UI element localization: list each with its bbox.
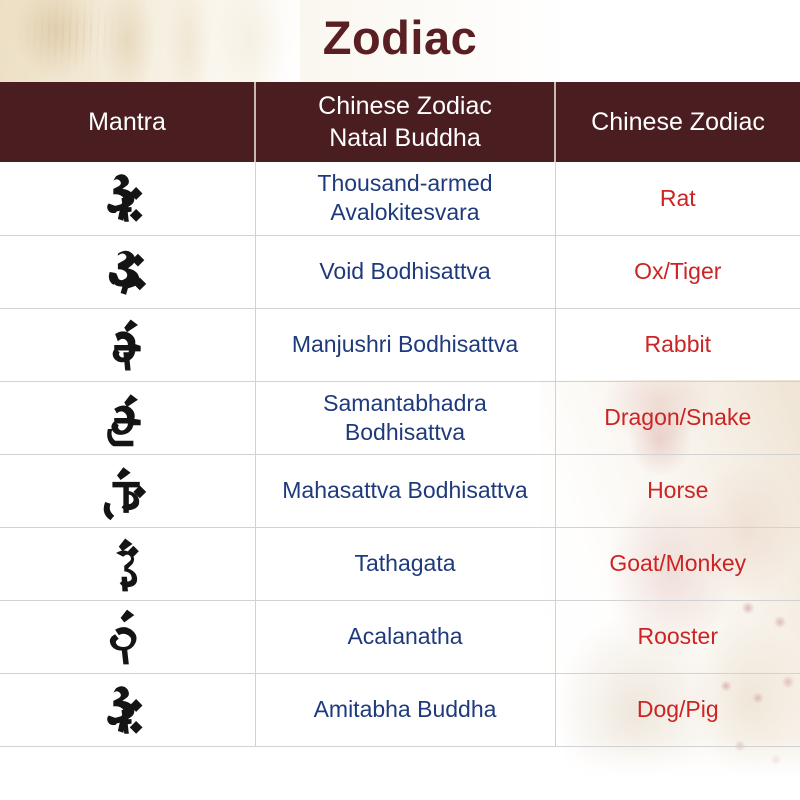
siddham-bija-bai-icon bbox=[96, 533, 158, 595]
chinese-zodiac-cell: Rabbit bbox=[555, 308, 800, 381]
natal-buddha-line1: Samantabhadra bbox=[323, 390, 487, 416]
natal-buddha-line1: Mahasattva Bodhisattva bbox=[282, 477, 527, 503]
siddham-bija-am-icon bbox=[96, 387, 158, 449]
siddham-bija-hrih2-icon bbox=[96, 679, 158, 741]
siddham-bija-man-icon bbox=[96, 314, 158, 376]
natal-buddha-cell: Manjushri Bodhisattva bbox=[255, 308, 555, 381]
mantra-cell bbox=[0, 162, 255, 235]
table-row: TathagataGoat/Monkey bbox=[0, 527, 800, 600]
chinese-zodiac-cell: Horse bbox=[555, 454, 800, 527]
chinese-zodiac-cell: Rat bbox=[555, 162, 800, 235]
natal-buddha-cell: SamantabhadraBodhisattva bbox=[255, 381, 555, 454]
mantra-cell bbox=[0, 308, 255, 381]
column-header-natal-buddha-line2: Natal Buddha bbox=[329, 124, 481, 152]
mantra-cell bbox=[0, 454, 255, 527]
natal-buddha-cell: Acalanatha bbox=[255, 600, 555, 673]
siddham-bija-ham-icon bbox=[96, 606, 158, 668]
natal-buddha-line1: Tathagata bbox=[354, 550, 455, 576]
chinese-zodiac-cell: Rooster bbox=[555, 600, 800, 673]
chinese-zodiac-cell: Dragon/Snake bbox=[555, 381, 800, 454]
natal-buddha-cell: Void Bodhisattva bbox=[255, 235, 555, 308]
mantra-cell bbox=[0, 600, 255, 673]
natal-buddha-line1: Void Bodhisattva bbox=[319, 258, 490, 284]
natal-buddha-cell: Thousand-armedAvalokitesvara bbox=[255, 162, 555, 235]
bottom-fade bbox=[0, 740, 800, 800]
table-row: Mahasattva BodhisattvaHorse bbox=[0, 454, 800, 527]
table-row: Thousand-armedAvalokitesvaraRat bbox=[0, 162, 800, 235]
column-header-natal-buddha: Chinese Zodiac Natal Buddha bbox=[255, 82, 555, 162]
zodiac-infographic: Zodiac Mantra Chinese Zodiac Natal Buddh… bbox=[0, 0, 800, 800]
chinese-zodiac-cell: Goat/Monkey bbox=[555, 527, 800, 600]
table-row: Manjushri BodhisattvaRabbit bbox=[0, 308, 800, 381]
mantra-cell bbox=[0, 527, 255, 600]
column-header-chinese-zodiac: Chinese Zodiac bbox=[555, 82, 800, 162]
siddham-bija-sa-icon bbox=[96, 460, 158, 522]
column-header-mantra: Mantra bbox=[0, 82, 255, 162]
chinese-zodiac-cell: Ox/Tiger bbox=[555, 235, 800, 308]
chinese-zodiac-cell: Dog/Pig bbox=[555, 673, 800, 746]
natal-buddha-line1: Thousand-armed bbox=[317, 170, 492, 196]
natal-buddha-cell: Tathagata bbox=[255, 527, 555, 600]
table-row: Amitabha BuddhaDog/Pig bbox=[0, 673, 800, 746]
mantra-cell bbox=[0, 235, 255, 308]
natal-buddha-cell: Mahasattva Bodhisattva bbox=[255, 454, 555, 527]
natal-buddha-line1: Amitabha Buddha bbox=[314, 696, 497, 722]
zodiac-table: Mantra Chinese Zodiac Natal Buddha Chine… bbox=[0, 82, 800, 747]
natal-buddha-line2: Bodhisattva bbox=[345, 419, 465, 445]
table-row: SamantabhadraBodhisattvaDragon/Snake bbox=[0, 381, 800, 454]
natal-buddha-line1: Acalanatha bbox=[347, 623, 462, 649]
natal-buddha-cell: Amitabha Buddha bbox=[255, 673, 555, 746]
mantra-cell bbox=[0, 381, 255, 454]
header-row: Mantra Chinese Zodiac Natal Buddha Chine… bbox=[0, 82, 800, 162]
table-body: Thousand-armedAvalokitesvaraRat Void Bod… bbox=[0, 162, 800, 746]
page-title: Zodiac bbox=[0, 6, 800, 70]
column-header-natal-buddha-line1: Chinese Zodiac bbox=[318, 92, 492, 120]
mantra-cell bbox=[0, 673, 255, 746]
natal-buddha-line2: Avalokitesvara bbox=[330, 199, 479, 225]
table-row: Void BodhisattvaOx/Tiger bbox=[0, 235, 800, 308]
natal-buddha-line1: Manjushri Bodhisattva bbox=[292, 331, 518, 357]
table-header: Mantra Chinese Zodiac Natal Buddha Chine… bbox=[0, 82, 800, 162]
siddham-bija-tram-icon bbox=[96, 241, 158, 303]
table-row: AcalanathaRooster bbox=[0, 600, 800, 673]
siddham-bija-hrih-icon bbox=[96, 167, 158, 229]
